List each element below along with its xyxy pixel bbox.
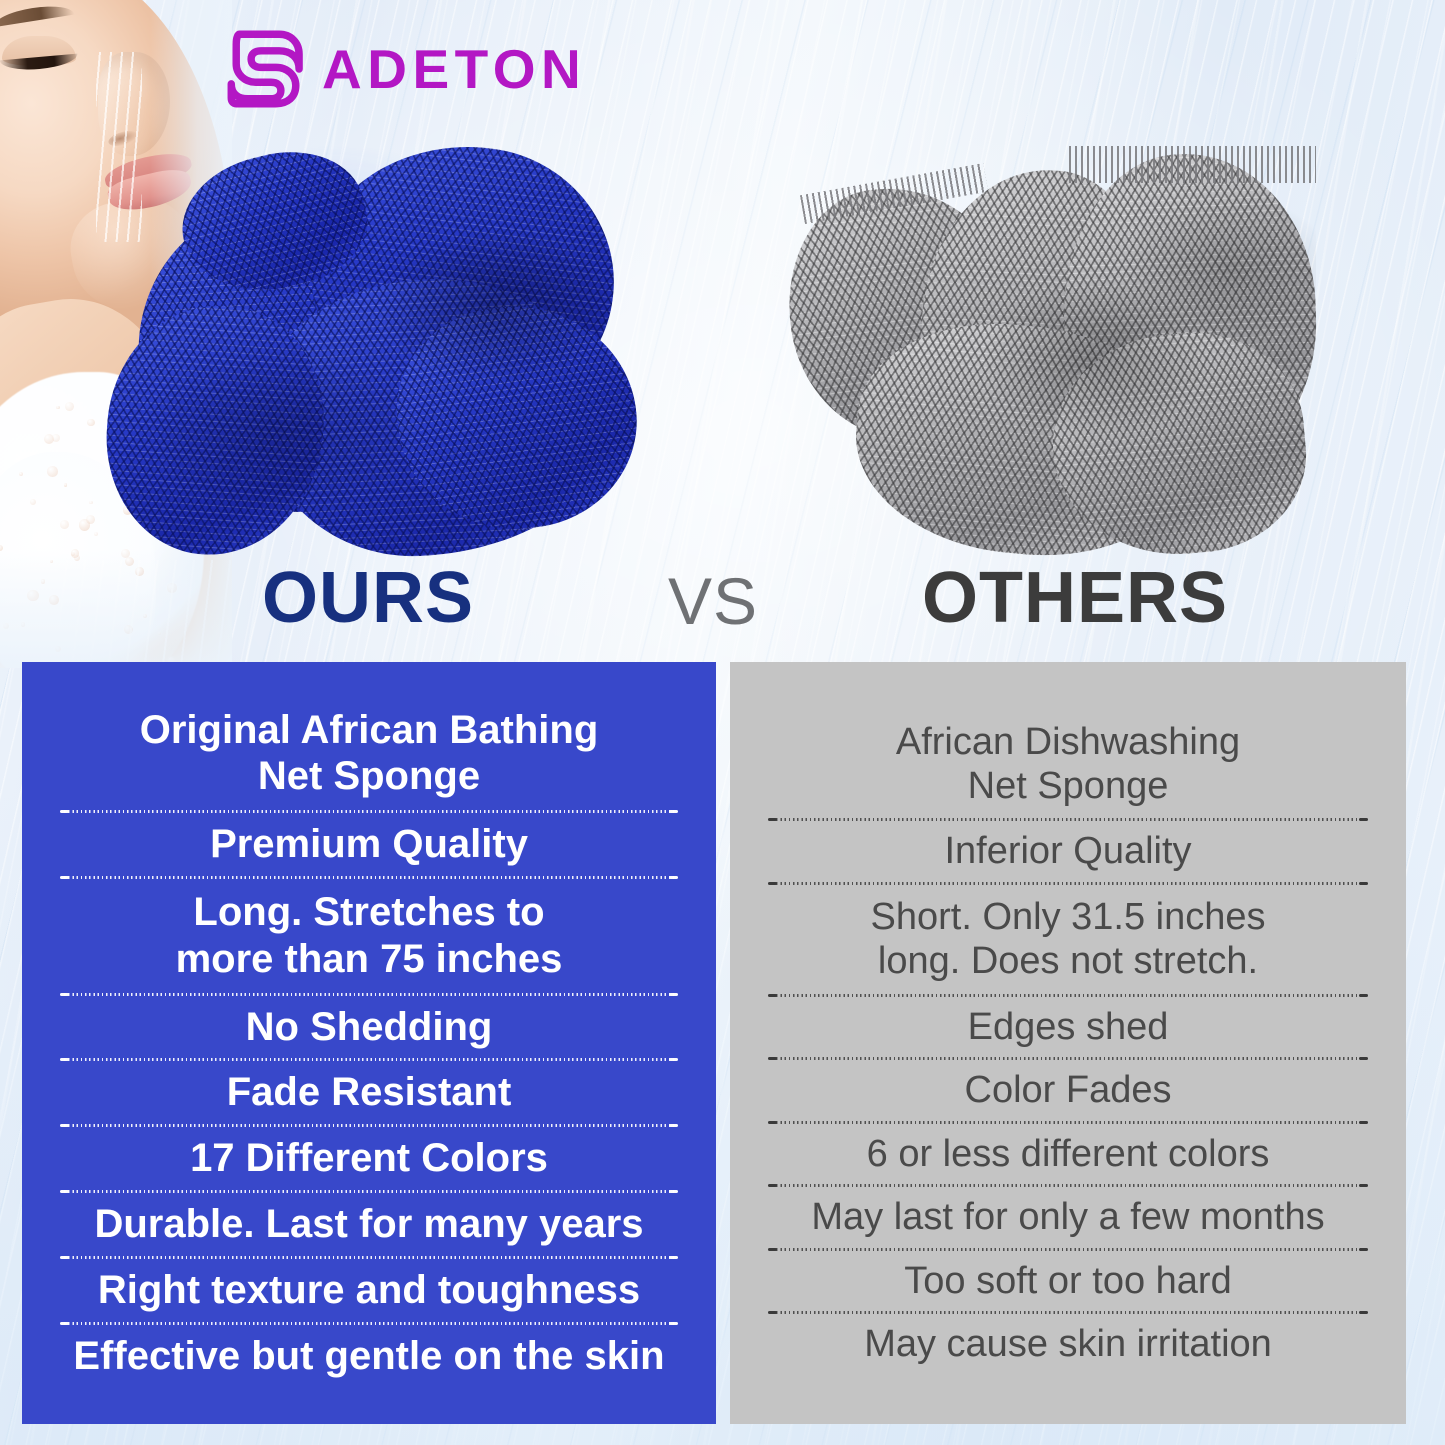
- row-divider: [772, 1184, 1364, 1187]
- comparison-table: Original African BathingNet SpongePremiu…: [0, 662, 1445, 1424]
- comparison-panel-ours: Original African BathingNet SpongePremiu…: [22, 662, 716, 1424]
- row-divider: [772, 818, 1364, 821]
- comparison-row: Original African BathingNet Sponge: [46, 698, 692, 810]
- row-divider: [772, 882, 1364, 885]
- product-image-ours: [96, 128, 636, 573]
- comparison-row: Effective but gentle on the skin: [46, 1326, 692, 1387]
- comparison-row: No Shedding: [46, 997, 692, 1058]
- comparison-row: Edges shed: [754, 998, 1382, 1056]
- row-divider: [64, 876, 674, 879]
- row-divider: [772, 1311, 1364, 1314]
- row-divider: [64, 1124, 674, 1127]
- comparison-row: 6 or less different colors: [754, 1125, 1382, 1183]
- comparison-row: May last for only a few months: [754, 1188, 1382, 1246]
- comparison-row: Fade Resistant: [46, 1062, 692, 1123]
- heading-ours: OURS: [262, 562, 474, 634]
- comparison-row: May cause skin irritation: [754, 1315, 1382, 1373]
- brand-name: ADETON: [322, 42, 586, 97]
- row-divider: [64, 1322, 674, 1325]
- comparison-row: 17 Different Colors: [46, 1128, 692, 1189]
- product-image-others: [768, 146, 1316, 554]
- adeton-s-mark-icon: [224, 26, 308, 112]
- row-divider: [772, 994, 1364, 997]
- blue-sponge-body: [96, 128, 636, 573]
- row-divider: [64, 1256, 674, 1259]
- row-divider: [772, 1248, 1364, 1251]
- brand-logo: ADETON: [224, 26, 586, 112]
- comparison-row: Right texture and toughness: [46, 1260, 692, 1321]
- comparison-row: Durable. Last for many years: [46, 1194, 692, 1255]
- comparison-row: Long. Stretches tomore than 75 inches: [46, 880, 692, 992]
- frayed-shedding-edge: [1069, 146, 1316, 183]
- comparison-row: Inferior Quality: [754, 822, 1382, 880]
- comparison-panel-others: African DishwashingNet SpongeInferior Qu…: [730, 662, 1406, 1424]
- comparison-row: Too soft or too hard: [754, 1252, 1382, 1310]
- heading-others: OTHERS: [922, 562, 1228, 634]
- row-divider: [64, 810, 674, 813]
- comparison-row: Premium Quality: [46, 814, 692, 875]
- row-divider: [64, 1058, 674, 1061]
- comparison-row: African DishwashingNet Sponge: [754, 711, 1382, 818]
- heading-vs: VS: [668, 568, 758, 634]
- row-divider: [64, 993, 674, 996]
- row-divider: [772, 1121, 1364, 1124]
- comparison-row: Short. Only 31.5 incheslong. Does not st…: [754, 886, 1382, 993]
- row-divider: [64, 1190, 674, 1193]
- row-divider: [772, 1057, 1364, 1060]
- comparison-row: Color Fades: [754, 1061, 1382, 1119]
- comparison-headings: OURS VS OTHERS: [0, 562, 1445, 650]
